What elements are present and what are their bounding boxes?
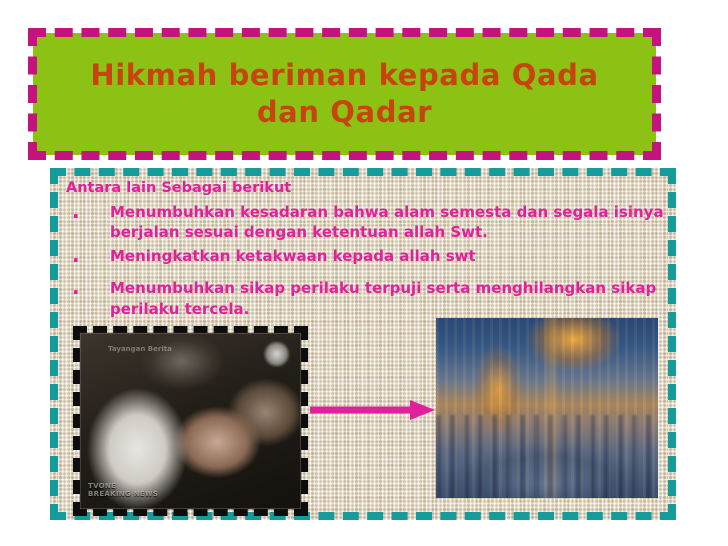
bullet-text: Menumbuhkan sikap perilaku terpuji serta… [110, 278, 664, 319]
bullet-marker-icon [64, 278, 110, 307]
bullet-text-block: Antara lain Sebagai berikut Menumbuhkan … [64, 179, 664, 319]
video-still-watermark: TVONE BREAKING NEWS [88, 482, 158, 500]
right-arrow-icon [310, 399, 435, 421]
watermark-headline: BREAKING NEWS [88, 490, 158, 499]
bullet-marker-icon [64, 246, 110, 275]
bullet-text: Menumbuhkan kesadaran bahwa alam semesta… [110, 202, 664, 243]
presentation-slide: Hikmah beriman kepada Qada dan Qadar Ant… [0, 0, 728, 546]
lead-line: Antara lain Sebagai berikut [64, 179, 664, 199]
bullet-text: Meningkatkan ketakwaan kepada allah swt [110, 246, 664, 267]
list-item: Menumbuhkan kesadaran bahwa alam semesta… [64, 202, 664, 243]
list-item: Meningkatkan ketakwaan kepada allah swt [64, 246, 664, 275]
bullet-marker-icon [64, 202, 110, 231]
title-box: Hikmah beriman kepada Qada dan Qadar [33, 33, 656, 155]
content-box: Antara lain Sebagai berikut Menumbuhkan … [50, 168, 676, 520]
city-street-image [436, 318, 658, 498]
video-still-photo: Tayangan Berita TVONE BREAKING NEWS [73, 326, 308, 516]
page-title: Hikmah beriman kepada Qada dan Qadar [65, 57, 625, 131]
video-still-corner-text: Tayangan Berita [108, 345, 172, 354]
city-crowd [436, 415, 658, 498]
watermark-channel: TVONE [88, 482, 158, 491]
city-street-photo [436, 318, 658, 498]
list-item: Menumbuhkan sikap perilaku terpuji serta… [64, 278, 664, 319]
